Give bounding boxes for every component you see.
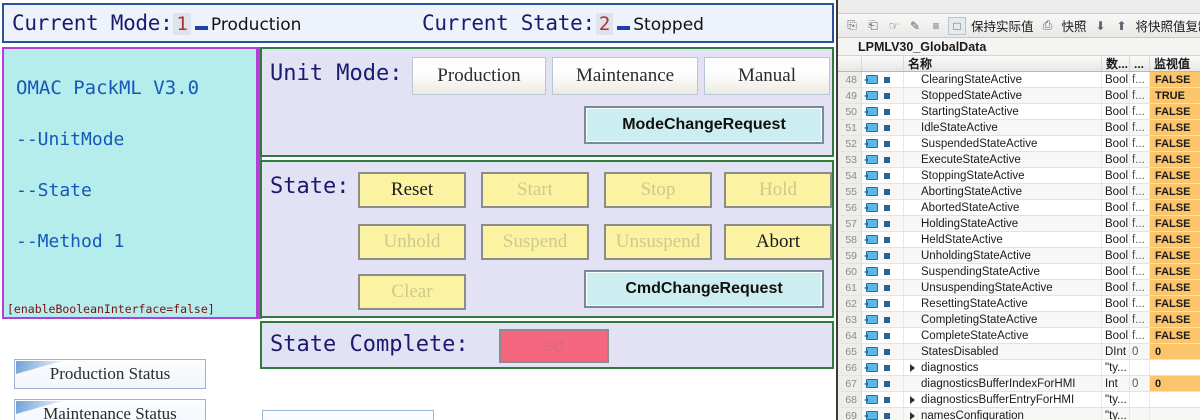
row-name-label: SuspendingStateActive: [921, 266, 1040, 278]
state-complete-indicator: SC: [499, 329, 609, 363]
current-state-readout: Current State: 2 Stopped: [422, 11, 704, 35]
row-index: 49: [838, 88, 862, 103]
row-name-cell: AbortedStateActive: [904, 200, 1102, 215]
expand-triangle-icon[interactable]: [910, 396, 915, 404]
row-name-label: HoldingStateActive: [921, 218, 1018, 230]
row-monitor-value: FALSE: [1150, 248, 1200, 263]
row-name-cell: UnholdingStateActive: [904, 248, 1102, 263]
retain-actual-values-button[interactable]: 保持实际值: [969, 16, 1036, 35]
db-tag-icon: [866, 251, 878, 260]
db-tag-icon: [866, 107, 878, 116]
row-name-cell: HoldingStateActive: [904, 216, 1102, 231]
row-icons: [862, 344, 904, 359]
retain-marker-icon: [884, 285, 890, 291]
row-index: 67: [838, 376, 862, 391]
row-monitor-value: [1150, 408, 1200, 420]
row-icons: [862, 296, 904, 311]
row-datatype: Bool: [1102, 280, 1130, 295]
row-monitor-value: FALSE: [1150, 104, 1200, 119]
row-start-value: [1130, 360, 1150, 375]
row-datatype: "ty...: [1102, 408, 1130, 420]
row-monitor-value: TRUE: [1150, 88, 1200, 103]
retain-marker-icon: [884, 237, 890, 243]
row-icons: [862, 184, 904, 199]
row-name-label: ResettingStateActive: [921, 298, 1028, 310]
db-tag-icon: [866, 75, 878, 84]
table-row[interactable]: 68diagnosticsBufferEntryForHMI"ty...: [838, 392, 1200, 408]
row-start-value: f...: [1130, 72, 1150, 87]
row-icons: [862, 104, 904, 119]
row-start-value: f...: [1130, 264, 1150, 279]
table-row[interactable]: 69namesConfiguration"ty...: [838, 408, 1200, 420]
row-datatype: Bool: [1102, 248, 1130, 263]
row-name-label: UnholdingStateActive: [921, 250, 1031, 262]
row-datatype: Bool: [1102, 232, 1130, 247]
expand-triangle-icon[interactable]: [910, 412, 915, 420]
row-name-label: UnsuspendingStateActive: [921, 282, 1053, 294]
screenshot-root: Current Mode: 1 Production Current State…: [0, 0, 1200, 420]
column-header-icon: [862, 56, 904, 71]
state-group: State: Reset Start Stop Hold Unhold Susp…: [260, 160, 834, 318]
db-tag-icon: [866, 379, 878, 388]
retain-marker-icon: [884, 269, 890, 275]
row-start-value: f...: [1130, 248, 1150, 263]
row-icons: [862, 360, 904, 375]
retain-marker-icon: [884, 301, 890, 307]
table-row[interactable]: 55AbortingStateActiveBoolf...FALSE: [838, 184, 1200, 200]
table-row[interactable]: 56AbortedStateActiveBoolf...FALSE: [838, 200, 1200, 216]
state-dash-icon: [617, 26, 630, 30]
current-mode-readout: Current Mode: 1 Production: [12, 11, 301, 35]
row-monitor-value: [1150, 392, 1200, 407]
table-row[interactable]: 58HeldStateActiveBoolf...FALSE: [838, 232, 1200, 248]
state-button-start[interactable]: Start: [481, 172, 589, 208]
row-name-label: diagnostics: [921, 362, 979, 374]
row-start-value: f...: [1130, 280, 1150, 295]
row-index: 59: [838, 248, 862, 263]
row-name-cell: ExecuteStateActive: [904, 152, 1102, 167]
table-row[interactable]: 50StartingStateActiveBoolf...FALSE: [838, 104, 1200, 120]
snapshot-icon[interactable]: ⎙: [1039, 17, 1057, 35]
db-tag-icon: [866, 267, 878, 276]
row-name-cell: StartingStateActive: [904, 104, 1102, 119]
retain-marker-icon: [884, 253, 890, 259]
row-monitor-value: FALSE: [1150, 152, 1200, 167]
db-tag-icon: [866, 91, 878, 100]
row-monitor-value: FALSE: [1150, 168, 1200, 183]
row-name-cell: CompletingStateActive: [904, 312, 1102, 327]
row-index: 48: [838, 72, 862, 87]
row-start-value: [1130, 408, 1150, 420]
row-monitor-value: FALSE: [1150, 120, 1200, 135]
row-index: 63: [838, 312, 862, 327]
db-tag-icon: [866, 123, 878, 132]
row-start-value: f...: [1130, 184, 1150, 199]
db-tag-icon: [866, 315, 878, 324]
nav-button-production-status[interactable]: Production Status: [14, 359, 206, 389]
current-state-number: 2: [596, 13, 613, 35]
state-button-unhold[interactable]: Unhold: [358, 224, 466, 260]
row-name-cell: ResettingStateActive: [904, 296, 1102, 311]
row-monitor-value: FALSE: [1150, 312, 1200, 327]
retain-marker-icon: [884, 381, 890, 387]
table-row[interactable]: 54StoppingStateActiveBoolf...FALSE: [838, 168, 1200, 184]
row-monitor-value: FALSE: [1150, 280, 1200, 295]
state-complete-group: State Complete: SC: [260, 321, 834, 369]
row-icons: [862, 136, 904, 151]
row-monitor-value: FALSE: [1150, 200, 1200, 215]
row-name-label: ExecuteStateActive: [921, 154, 1021, 166]
row-name-label: diagnosticsBufferEntryForHMI: [921, 394, 1074, 406]
row-datatype: Int: [1102, 376, 1130, 391]
row-name-label: diagnosticsBufferIndexForHMI: [921, 378, 1075, 390]
row-index: 66: [838, 360, 862, 375]
row-monitor-value: FALSE: [1150, 136, 1200, 151]
current-mode-value: Production: [211, 15, 301, 35]
row-name-label: HeldStateActive: [921, 234, 1003, 246]
nav-button-maintenance-status[interactable]: Maintenance Status: [14, 399, 206, 420]
retain-marker-icon: [884, 317, 890, 323]
row-name-cell: StoppedStateActive: [904, 88, 1102, 103]
modify-tag-icon[interactable]: ✎: [906, 17, 924, 35]
current-state-value: Stopped: [633, 15, 704, 35]
retain-marker-icon: [884, 157, 890, 163]
row-datatype: Bool: [1102, 152, 1130, 167]
row-index: 58: [838, 232, 862, 247]
table-row[interactable]: 52SuspendedStateActiveBoolf...FALSE: [838, 136, 1200, 152]
row-name-cell: ClearingStateActive: [904, 72, 1102, 87]
table-row[interactable]: 49StoppedStateActiveBoolf...TRUE: [838, 88, 1200, 104]
row-icons: [862, 328, 904, 343]
table-row[interactable]: 51IdleStateActiveBoolf...FALSE: [838, 120, 1200, 136]
db-tag-icon: [866, 155, 878, 164]
row-datatype: "ty...: [1102, 392, 1130, 407]
db-tag-icon: [866, 219, 878, 228]
row-name-cell: namesConfiguration: [904, 408, 1102, 420]
retain-marker-icon: [884, 125, 890, 131]
row-datatype: Bool: [1102, 328, 1130, 343]
hmi-panel: Current Mode: 1 Production Current State…: [0, 0, 836, 420]
unit-mode-button-production[interactable]: Production: [412, 57, 546, 95]
tia-toolbar: ⎘⎗☞✎≡□保持实际值⎙快照⬇⬆将快照值复制: [838, 14, 1200, 38]
row-start-value: f...: [1130, 312, 1150, 327]
row-name-label: namesConfiguration: [921, 410, 1024, 420]
state-button-clear[interactable]: Clear: [358, 274, 466, 310]
column-header-monitor[interactable]: 监视值: [1150, 56, 1200, 71]
tia-column-header: 名称 数... ... 监视值: [838, 55, 1200, 72]
unit-mode-group: Unit Mode: Production Maintenance Manual…: [260, 47, 834, 157]
row-start-value: f...: [1130, 328, 1150, 343]
row-start-value: f...: [1130, 216, 1150, 231]
row-name-cell: AbortingStateActive: [904, 184, 1102, 199]
db-tag-icon: [866, 331, 878, 340]
row-index: 57: [838, 216, 862, 231]
state-button-abort[interactable]: Abort: [724, 224, 832, 260]
row-icons: [862, 88, 904, 103]
db-tag-icon: [866, 139, 878, 148]
row-name-label: AbortedStateActive: [921, 202, 1019, 214]
monitor-tag-icon[interactable]: ☞: [885, 17, 903, 35]
row-icons: [862, 280, 904, 295]
info-panel-line-method: --Method 1: [4, 231, 256, 252]
row-datatype: Bool: [1102, 104, 1130, 119]
info-panel-flag: [enableBooleanInterface=false]: [7, 302, 215, 316]
row-name-label: ClearingStateActive: [921, 74, 1022, 86]
row-monitor-value: 0: [1150, 376, 1200, 391]
row-start-value: f...: [1130, 120, 1150, 135]
row-icons: [862, 392, 904, 407]
table-row[interactable]: 48ClearingStateActiveBoolf...FALSE: [838, 72, 1200, 88]
row-datatype: Bool: [1102, 264, 1130, 279]
row-monitor-value: FALSE: [1150, 264, 1200, 279]
table-row[interactable]: 63CompletingStateActiveBoolf...FALSE: [838, 312, 1200, 328]
table-row[interactable]: 57HoldingStateActiveBoolf...FALSE: [838, 216, 1200, 232]
retain-marker-icon: [884, 397, 890, 403]
row-index: 55: [838, 184, 862, 199]
current-mode-number: 1: [173, 13, 190, 35]
row-name-label: StoppedStateActive: [921, 90, 1022, 102]
row-start-value: f...: [1130, 88, 1150, 103]
row-datatype: Bool: [1102, 312, 1130, 327]
download-to-device-icon[interactable]: ⎘: [843, 17, 861, 35]
row-icons: [862, 232, 904, 247]
row-start-value: f...: [1130, 232, 1150, 247]
row-icons: [862, 312, 904, 327]
row-icons: [862, 264, 904, 279]
row-index: 64: [838, 328, 862, 343]
copy-snapshot-values-button[interactable]: 将快照值复制: [1134, 16, 1200, 35]
row-monitor-value: 0: [1150, 344, 1200, 359]
row-start-value: f...: [1130, 136, 1150, 151]
retain-marker-icon: [884, 413, 890, 419]
row-index: 51: [838, 120, 862, 135]
tia-top-strip: [838, 0, 1200, 14]
db-tag-icon: [866, 363, 878, 372]
row-index: 65: [838, 344, 862, 359]
table-row[interactable]: 65StatesDisabledDInt00: [838, 344, 1200, 360]
row-name-cell: UnsuspendingStateActive: [904, 280, 1102, 295]
row-icons: [862, 376, 904, 391]
mode-dash-icon: [195, 26, 208, 30]
row-icons: [862, 200, 904, 215]
table-row[interactable]: 64CompleteStateActiveBoolf...FALSE: [838, 328, 1200, 344]
row-name-cell: StoppingStateActive: [904, 168, 1102, 183]
list-icon[interactable]: ≡: [927, 17, 945, 35]
row-monitor-value: [1150, 360, 1200, 375]
row-icons: [862, 120, 904, 135]
copy-snapshot-up-icon[interactable]: ⬆: [1113, 17, 1131, 35]
current-mode-label: Current Mode:: [12, 11, 172, 35]
row-index: 56: [838, 200, 862, 215]
nav-button-partial[interactable]: [262, 410, 434, 420]
row-index: 62: [838, 296, 862, 311]
retain-marker-icon: [884, 205, 890, 211]
row-icons: [862, 168, 904, 183]
tia-portal-panel: ⎘⎗☞✎≡□保持实际值⎙快照⬇⬆将快照值复制 LPMLV30_GlobalDat…: [836, 0, 1200, 420]
retain-marker-icon: [884, 173, 890, 179]
info-panel-line-unitmode: --UnitMode: [4, 129, 256, 150]
db-tag-icon: [866, 171, 878, 180]
row-datatype: Bool: [1102, 72, 1130, 87]
column-header-type[interactable]: 数...: [1102, 56, 1130, 71]
row-name-cell: HeldStateActive: [904, 232, 1102, 247]
row-start-value: [1130, 392, 1150, 407]
row-monitor-value: FALSE: [1150, 328, 1200, 343]
table-row[interactable]: 60SuspendingStateActiveBoolf...FALSE: [838, 264, 1200, 280]
table-row[interactable]: 59UnholdingStateActiveBoolf...FALSE: [838, 248, 1200, 264]
row-start-value: f...: [1130, 104, 1150, 119]
row-datatype: Bool: [1102, 200, 1130, 215]
row-start-value: 0: [1130, 344, 1150, 359]
retain-marker-icon: [884, 77, 890, 83]
row-start-value: f...: [1130, 152, 1150, 167]
row-monitor-value: FALSE: [1150, 296, 1200, 311]
row-monitor-value: FALSE: [1150, 232, 1200, 247]
table-row[interactable]: 67diagnosticsBufferIndexForHMIInt00: [838, 376, 1200, 392]
row-start-value: 0: [1130, 376, 1150, 391]
state-button-hold[interactable]: Hold: [724, 172, 832, 208]
db-tag-icon: [866, 347, 878, 356]
row-datatype: Bool: [1102, 296, 1130, 311]
status-bar: Current Mode: 1 Production Current State…: [2, 3, 834, 43]
row-index: 68: [838, 392, 862, 407]
row-datatype: Bool: [1102, 120, 1130, 135]
row-monitor-value: FALSE: [1150, 184, 1200, 199]
row-name-cell: diagnosticsBufferIndexForHMI: [904, 376, 1102, 391]
row-index: 50: [838, 104, 862, 119]
row-start-value: f...: [1130, 168, 1150, 183]
info-panel: OMAC PackML V3.0 --UnitMode --State --Me…: [2, 47, 258, 319]
current-state-label: Current State:: [422, 11, 595, 35]
db-tag-icon: [866, 395, 878, 404]
row-icons: [862, 72, 904, 87]
table-row[interactable]: 62ResettingStateActiveBoolf...FALSE: [838, 296, 1200, 312]
row-icons: [862, 248, 904, 263]
monitor-all-icon[interactable]: □: [948, 17, 966, 35]
tia-db-name: LPMLV30_GlobalData: [838, 38, 1200, 55]
state-button-reset[interactable]: Reset: [358, 172, 466, 208]
row-monitor-value: FALSE: [1150, 72, 1200, 87]
row-name-cell: CompleteStateActive: [904, 328, 1102, 343]
row-name-label: IdleStateActive: [921, 122, 998, 134]
retain-marker-icon: [884, 141, 890, 147]
retain-marker-icon: [884, 109, 890, 115]
state-button-stop[interactable]: Stop: [604, 172, 712, 208]
row-datatype: Bool: [1102, 88, 1130, 103]
row-datatype: DInt: [1102, 344, 1130, 359]
db-tag-icon: [866, 283, 878, 292]
copy-snapshot-down-icon[interactable]: ⬇: [1092, 17, 1110, 35]
column-header-index: [838, 56, 862, 71]
column-header-mini[interactable]: ...: [1130, 56, 1150, 71]
retain-marker-icon: [884, 349, 890, 355]
row-datatype: Bool: [1102, 216, 1130, 231]
retain-marker-icon: [884, 189, 890, 195]
upload-from-device-icon[interactable]: ⎗: [864, 17, 882, 35]
row-name-label: StoppingStateActive: [921, 170, 1025, 182]
row-index: 54: [838, 168, 862, 183]
mode-change-request-button[interactable]: ModeChangeRequest: [584, 106, 824, 144]
row-name-label: AbortingStateActive: [921, 186, 1022, 198]
row-icons: [862, 216, 904, 231]
db-tag-icon: [866, 411, 878, 420]
expand-triangle-icon[interactable]: [910, 364, 915, 372]
table-row[interactable]: 66diagnostics"ty...: [838, 360, 1200, 376]
row-name-cell: diagnostics: [904, 360, 1102, 375]
state-complete-title: State Complete:: [270, 332, 469, 357]
tia-row-list[interactable]: 48ClearingStateActiveBoolf...FALSE49Stop…: [838, 72, 1200, 420]
row-index: 69: [838, 408, 862, 420]
retain-marker-icon: [884, 221, 890, 227]
unit-mode-button-maintenance[interactable]: Maintenance: [552, 57, 698, 95]
db-tag-icon: [866, 203, 878, 212]
state-button-suspend[interactable]: Suspend: [481, 224, 589, 260]
row-name-cell: SuspendingStateActive: [904, 264, 1102, 279]
retain-marker-icon: [884, 333, 890, 339]
row-name-cell: StatesDisabled: [904, 344, 1102, 359]
row-start-value: f...: [1130, 296, 1150, 311]
db-tag-icon: [866, 299, 878, 308]
snapshot-button[interactable]: 快照: [1060, 16, 1089, 35]
row-name-cell: IdleStateActive: [904, 120, 1102, 135]
row-name-cell: SuspendedStateActive: [904, 136, 1102, 151]
row-icons: [862, 152, 904, 167]
row-index: 61: [838, 280, 862, 295]
column-header-name[interactable]: 名称: [904, 56, 1102, 71]
row-datatype: Bool: [1102, 184, 1130, 199]
row-index: 53: [838, 152, 862, 167]
row-datatype: Bool: [1102, 168, 1130, 183]
row-name-label: StartingStateActive: [921, 106, 1019, 118]
row-datatype: Bool: [1102, 136, 1130, 151]
unit-mode-title: Unit Mode:: [270, 61, 402, 86]
unit-mode-button-manual[interactable]: Manual: [704, 57, 830, 95]
retain-marker-icon: [884, 365, 890, 371]
row-datatype: "ty...: [1102, 360, 1130, 375]
db-tag-icon: [866, 187, 878, 196]
db-tag-icon: [866, 235, 878, 244]
row-name-label: CompleteStateActive: [921, 330, 1028, 342]
row-name-cell: diagnosticsBufferEntryForHMI: [904, 392, 1102, 407]
table-row[interactable]: 53ExecuteStateActiveBoolf...FALSE: [838, 152, 1200, 168]
row-name-label: StatesDisabled: [921, 346, 998, 358]
row-name-label: SuspendedStateActive: [921, 138, 1037, 150]
state-title: State:: [270, 174, 349, 199]
row-index: 52: [838, 136, 862, 151]
cmd-change-request-button[interactable]: CmdChangeRequest: [584, 270, 824, 308]
row-start-value: f...: [1130, 200, 1150, 215]
info-panel-title: OMAC PackML V3.0: [4, 77, 256, 99]
info-panel-line-state: --State: [4, 180, 256, 201]
state-button-unsuspend[interactable]: Unsuspend: [604, 224, 712, 260]
row-icons: [862, 408, 904, 420]
row-name-label: CompletingStateActive: [921, 314, 1037, 326]
retain-marker-icon: [884, 93, 890, 99]
table-row[interactable]: 61UnsuspendingStateActiveBoolf...FALSE: [838, 280, 1200, 296]
row-index: 60: [838, 264, 862, 279]
row-monitor-value: FALSE: [1150, 216, 1200, 231]
